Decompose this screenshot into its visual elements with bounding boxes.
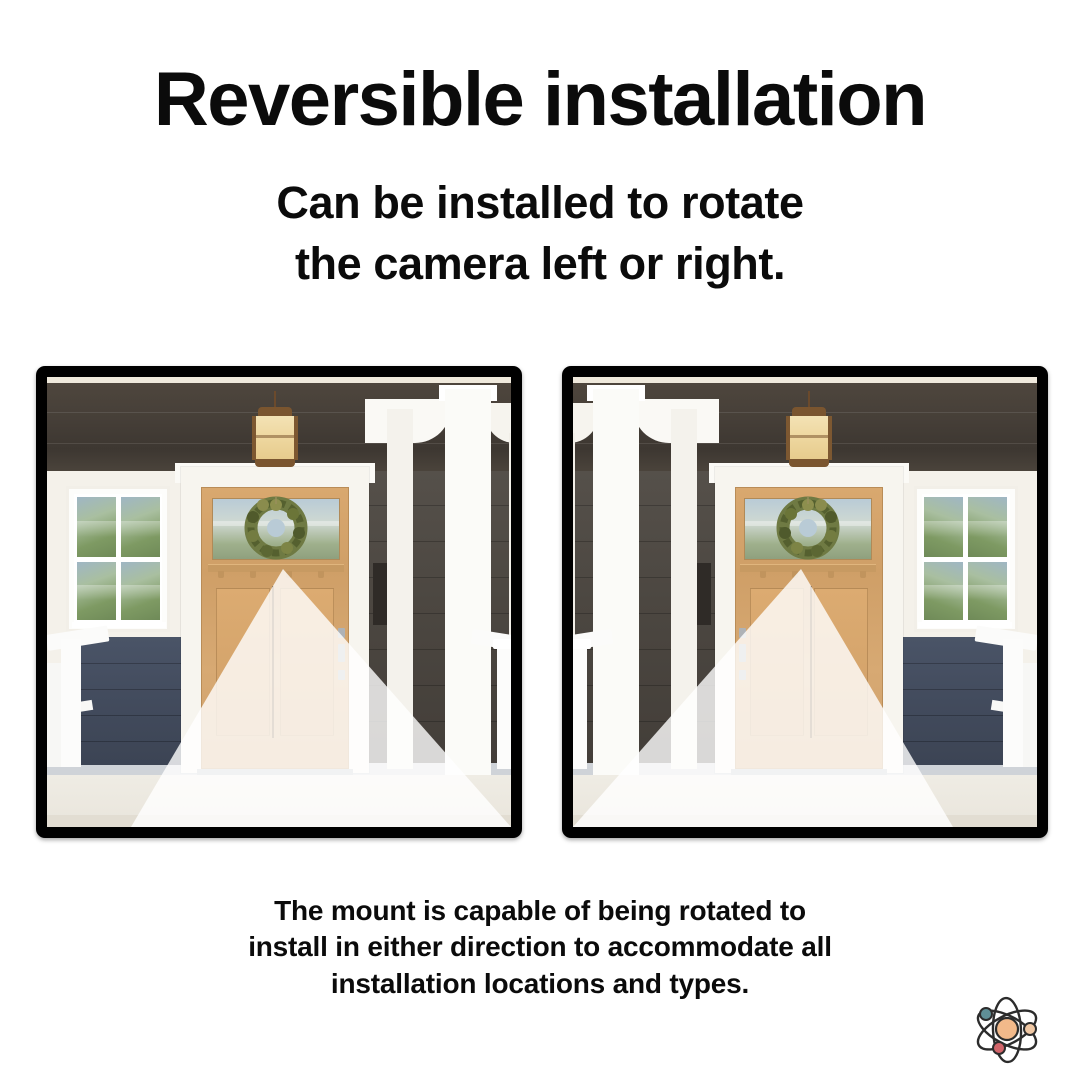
lantern-band	[252, 435, 298, 438]
door-lower-panel	[814, 588, 868, 736]
porch-lantern	[759, 377, 859, 477]
caption-line-3: installation locations and types.	[0, 966, 1080, 1002]
door-lock-icon	[739, 628, 746, 638]
left-rail-post-outer	[1023, 663, 1037, 767]
porch-floor-edge	[573, 815, 1037, 827]
atom-logo	[962, 988, 1048, 1070]
right-rail-post	[573, 645, 587, 769]
lantern-glass	[786, 416, 832, 460]
door-center-seam	[810, 586, 812, 738]
caption-line-1: The mount is capable of being rotated to	[0, 893, 1080, 929]
porch-column-inner	[387, 409, 413, 769]
page-title: Reversible installation	[0, 62, 1080, 138]
door-lower-panel	[280, 588, 334, 736]
window-pane	[968, 562, 1007, 620]
lantern-base	[789, 459, 829, 467]
caption: The mount is capable of being rotated to…	[0, 893, 1080, 1002]
door-lower-panel	[750, 588, 804, 736]
caption-line-2: install in either direction to accommoda…	[0, 929, 1080, 965]
window-pane	[77, 562, 116, 620]
window-pane	[924, 497, 963, 557]
door-handle-icon	[739, 644, 746, 662]
atom-electron-red-icon	[993, 1042, 1005, 1054]
window-pane	[968, 497, 1007, 557]
porch-scene-rotate-right	[47, 377, 511, 827]
window-sill	[918, 622, 1012, 628]
door-deadbolt-icon	[338, 670, 345, 680]
subtitle: Can be installed to rotate the camera le…	[0, 172, 1080, 294]
door-lock-icon	[338, 628, 345, 638]
window-pane	[77, 497, 116, 557]
atom-electron-peach-icon	[1024, 1023, 1036, 1035]
left-panel	[36, 366, 522, 838]
right-rail-cap	[493, 639, 511, 649]
porch-lantern	[225, 377, 325, 477]
door-handle-icon	[338, 644, 345, 662]
lantern-glass	[252, 416, 298, 460]
door-lower-panel	[216, 588, 270, 736]
porch-window	[69, 489, 167, 629]
door-center-seam	[272, 586, 274, 738]
right-rail-post	[497, 645, 511, 769]
door-deadbolt-icon	[739, 670, 746, 680]
lantern-band	[786, 435, 832, 438]
door-wreath-icon	[775, 495, 841, 561]
left-rail-post-outer	[47, 663, 61, 767]
atom-nucleus-icon	[996, 1018, 1018, 1040]
window-pane	[924, 562, 963, 620]
porch-column-inner	[671, 409, 697, 769]
atom-electron-teal-icon	[980, 1008, 992, 1020]
window-pane	[121, 497, 160, 557]
porch-window	[917, 489, 1015, 629]
porch-column-main	[445, 389, 491, 807]
left-rail-post	[1003, 639, 1023, 767]
porch-floor-edge	[47, 815, 511, 827]
right-rail-cap	[573, 639, 591, 649]
porch-column-main	[593, 389, 639, 807]
left-rail-post	[61, 639, 81, 767]
right-panel	[562, 366, 1048, 838]
subtitle-line-2: the camera left or right.	[0, 233, 1080, 294]
window-pane	[121, 562, 160, 620]
porch-scene-rotate-left	[573, 377, 1037, 827]
door-wreath-icon	[243, 495, 309, 561]
lantern-base	[255, 459, 295, 467]
window-sill	[72, 622, 166, 628]
subtitle-line-1: Can be installed to rotate	[0, 172, 1080, 233]
